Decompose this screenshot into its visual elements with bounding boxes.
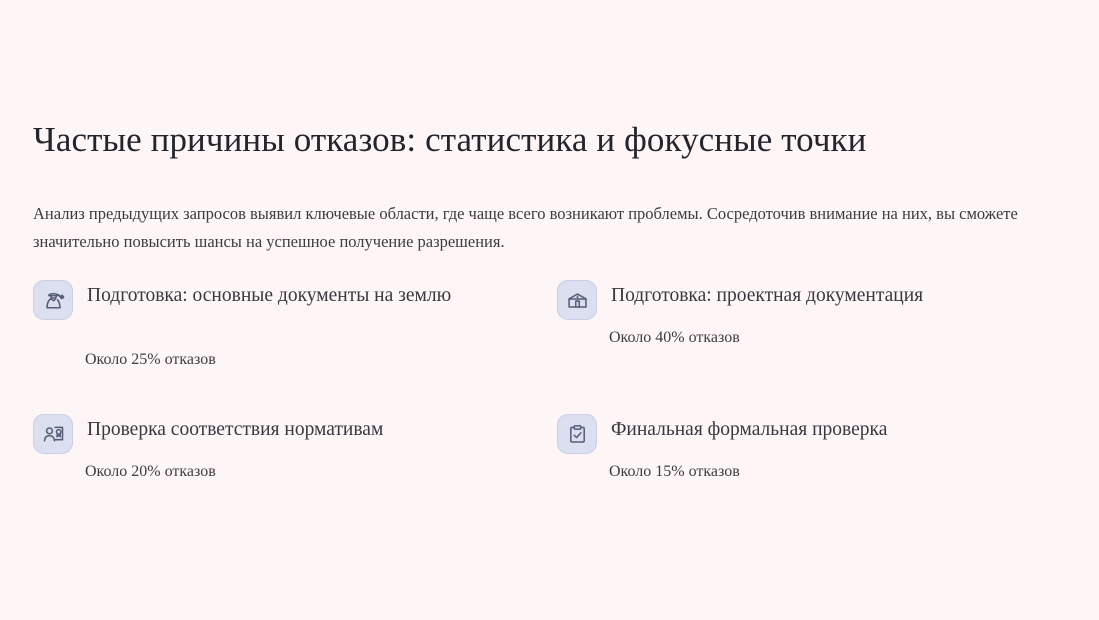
reason-item-3[interactable]: Проверка соответствия нормативам Около 2… [33, 411, 557, 521]
reason-item-2[interactable]: Подготовка: проектная документация Около… [557, 277, 1063, 411]
reason-item-4-subtitle: Около 15% отказов [609, 460, 1063, 484]
reason-item-2-title: Подготовка: проектная документация [611, 277, 923, 311]
barn-icon [557, 280, 597, 320]
page-root: Частые причины отказов: статистика и фок… [0, 0, 1099, 620]
reason-item-3-subtitle: Около 20% отказов [85, 460, 557, 484]
farmer-icon [33, 280, 73, 320]
content-container: Частые причины отказов: статистика и фок… [33, 118, 1063, 521]
reason-item-4[interactable]: Финальная формальная проверка Около 15% … [557, 411, 1063, 521]
reason-item-4-head: Финальная формальная проверка [557, 411, 1063, 454]
reason-item-2-subtitle: Около 40% отказов [609, 326, 1063, 350]
reason-item-2-head: Подготовка: проектная документация [557, 277, 1063, 320]
intro-paragraph: Анализ предыдущих запросов выявил ключев… [33, 200, 1059, 256]
page-title: Частые причины отказов: статистика и фок… [33, 118, 1063, 162]
reason-item-1-subtitle: Около 25% отказов [85, 348, 557, 372]
reason-item-3-title: Проверка соответствия нормативам [87, 411, 383, 445]
reasons-grid: Подготовка: основные документы на землю … [33, 277, 1063, 521]
person-certificate-icon [33, 414, 73, 454]
reason-item-3-head: Проверка соответствия нормативам [33, 411, 557, 454]
reason-item-1-head: Подготовка: основные документы на землю [33, 277, 557, 320]
reason-item-1-title: Подготовка: основные документы на землю [87, 277, 451, 311]
clipboard-check-icon [557, 414, 597, 454]
reason-item-4-title: Финальная формальная проверка [611, 411, 887, 445]
reason-item-1[interactable]: Подготовка: основные документы на землю … [33, 277, 557, 411]
